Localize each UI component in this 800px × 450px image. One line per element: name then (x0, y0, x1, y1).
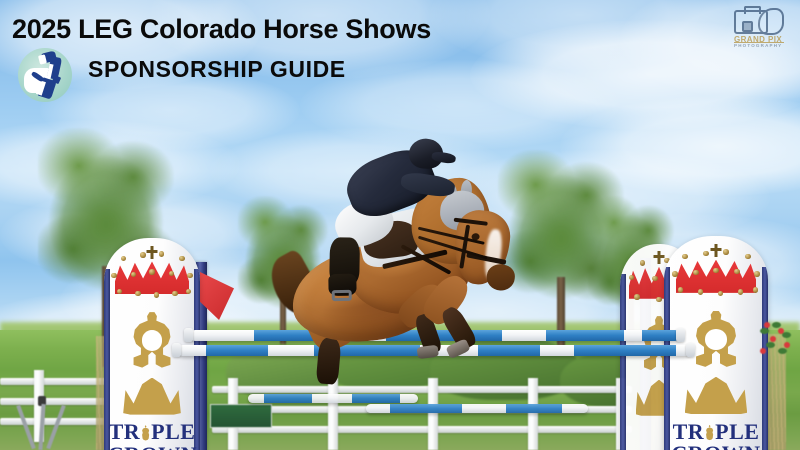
jump-standard-left: TRPLE CROWN (104, 238, 200, 450)
decorative-crown-icon (670, 245, 762, 302)
leg-logo-horse-mark (23, 52, 65, 97)
rail-cup-right (676, 328, 685, 342)
camera-lens-icon (742, 21, 753, 32)
gold-crown-icon (683, 311, 750, 368)
brand-line-2: CROWN (668, 443, 764, 450)
photographer-watermark: GRAND PIX PHOTOGRAPHY (732, 6, 788, 50)
show-jumping-horse-and-rider (256, 124, 520, 367)
camera-icon (734, 10, 768, 34)
brand-line-2: CROWN (108, 444, 196, 450)
gold-coronet-icon (685, 377, 747, 414)
crown-letter-icon (140, 425, 151, 441)
gold-coronet-icon (123, 378, 181, 415)
triple-crown-wordmark: TRPLE CROWN (668, 421, 764, 450)
rail-cup-left-front (172, 343, 181, 357)
decorative-crown-icon (110, 247, 195, 304)
jump-groundline-left (248, 394, 418, 403)
stirrup-iron (332, 290, 352, 301)
sponsorship-guide-banner: TRPLE CROWN (0, 0, 800, 450)
flower-box (756, 318, 796, 362)
arena-sign (210, 404, 272, 428)
horse-muzzle (485, 263, 516, 292)
triple-crown-wordmark: TRPLE CROWN (108, 421, 196, 450)
jump-groundline-right (366, 404, 588, 413)
page-subtitle: SPONSORSHIP GUIDE (88, 56, 346, 83)
leg-logo (18, 48, 72, 102)
page-title: 2025 LEG Colorado Horse Shows (12, 14, 431, 45)
crown-letter-icon (704, 425, 715, 441)
gold-crown-icon (121, 312, 182, 369)
rail-cup-left (184, 328, 193, 342)
watermark-tagline: PHOTOGRAPHY (734, 43, 782, 48)
jump-standard-right: TRPLE CROWN (664, 236, 768, 450)
rail-cup-right-front (686, 343, 695, 357)
camera-tripod (14, 396, 70, 450)
